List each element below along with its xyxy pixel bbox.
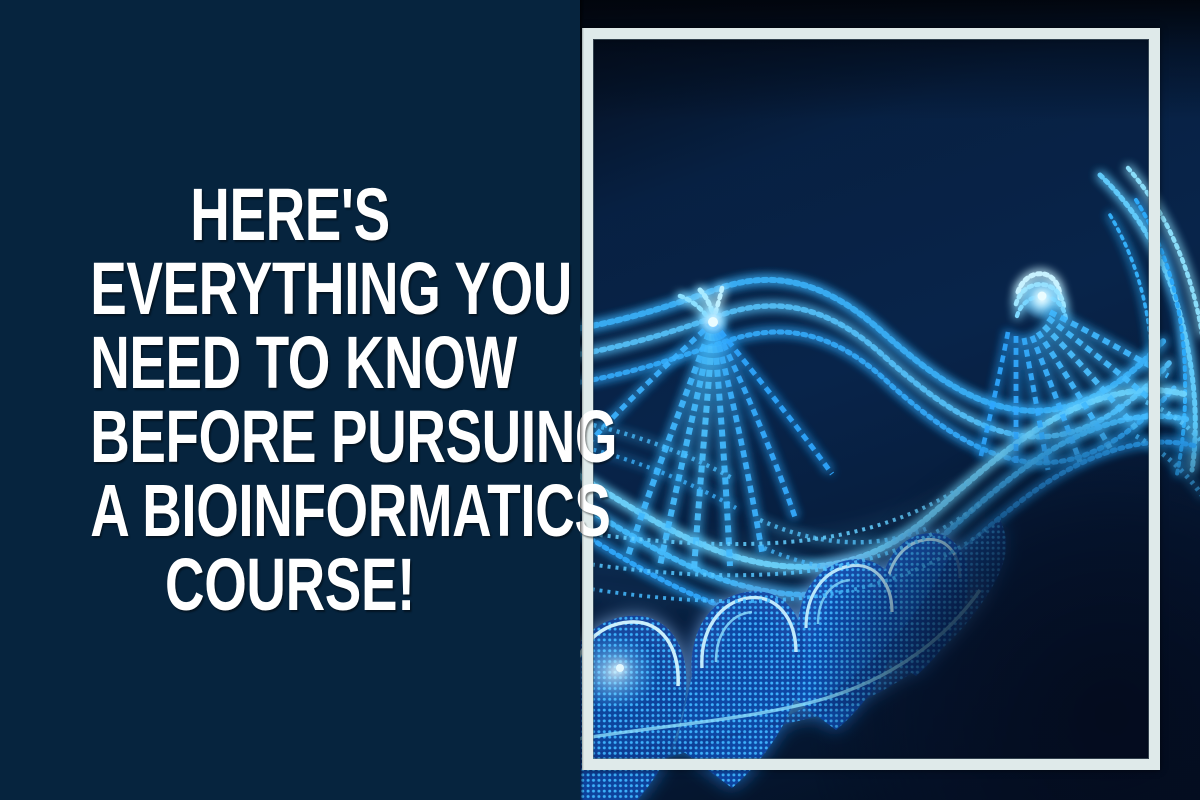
panel-seam-shadow <box>580 0 584 800</box>
headline-line-1: HERE'S <box>90 178 490 252</box>
poster-canvas: HERE'S EVERYTHING YOU NEED TO KNOW BEFOR… <box>0 0 1200 800</box>
dna-image-panel <box>580 0 1200 800</box>
page-title: HERE'S EVERYTHING YOU NEED TO KNOW BEFOR… <box>90 178 490 622</box>
headline-line-5: A BIOINFORMATICS <box>90 474 490 548</box>
headline-line-3: NEED TO KNOW <box>90 326 490 400</box>
headline-line-2: EVERYTHING YOU <box>90 252 490 326</box>
headline-line-4: BEFORE PURSUING <box>90 400 490 474</box>
artwork-corner-shade <box>810 420 1200 800</box>
headline-line-6: COURSE! <box>90 548 490 622</box>
headline-panel: HERE'S EVERYTHING YOU NEED TO KNOW BEFOR… <box>0 0 580 800</box>
